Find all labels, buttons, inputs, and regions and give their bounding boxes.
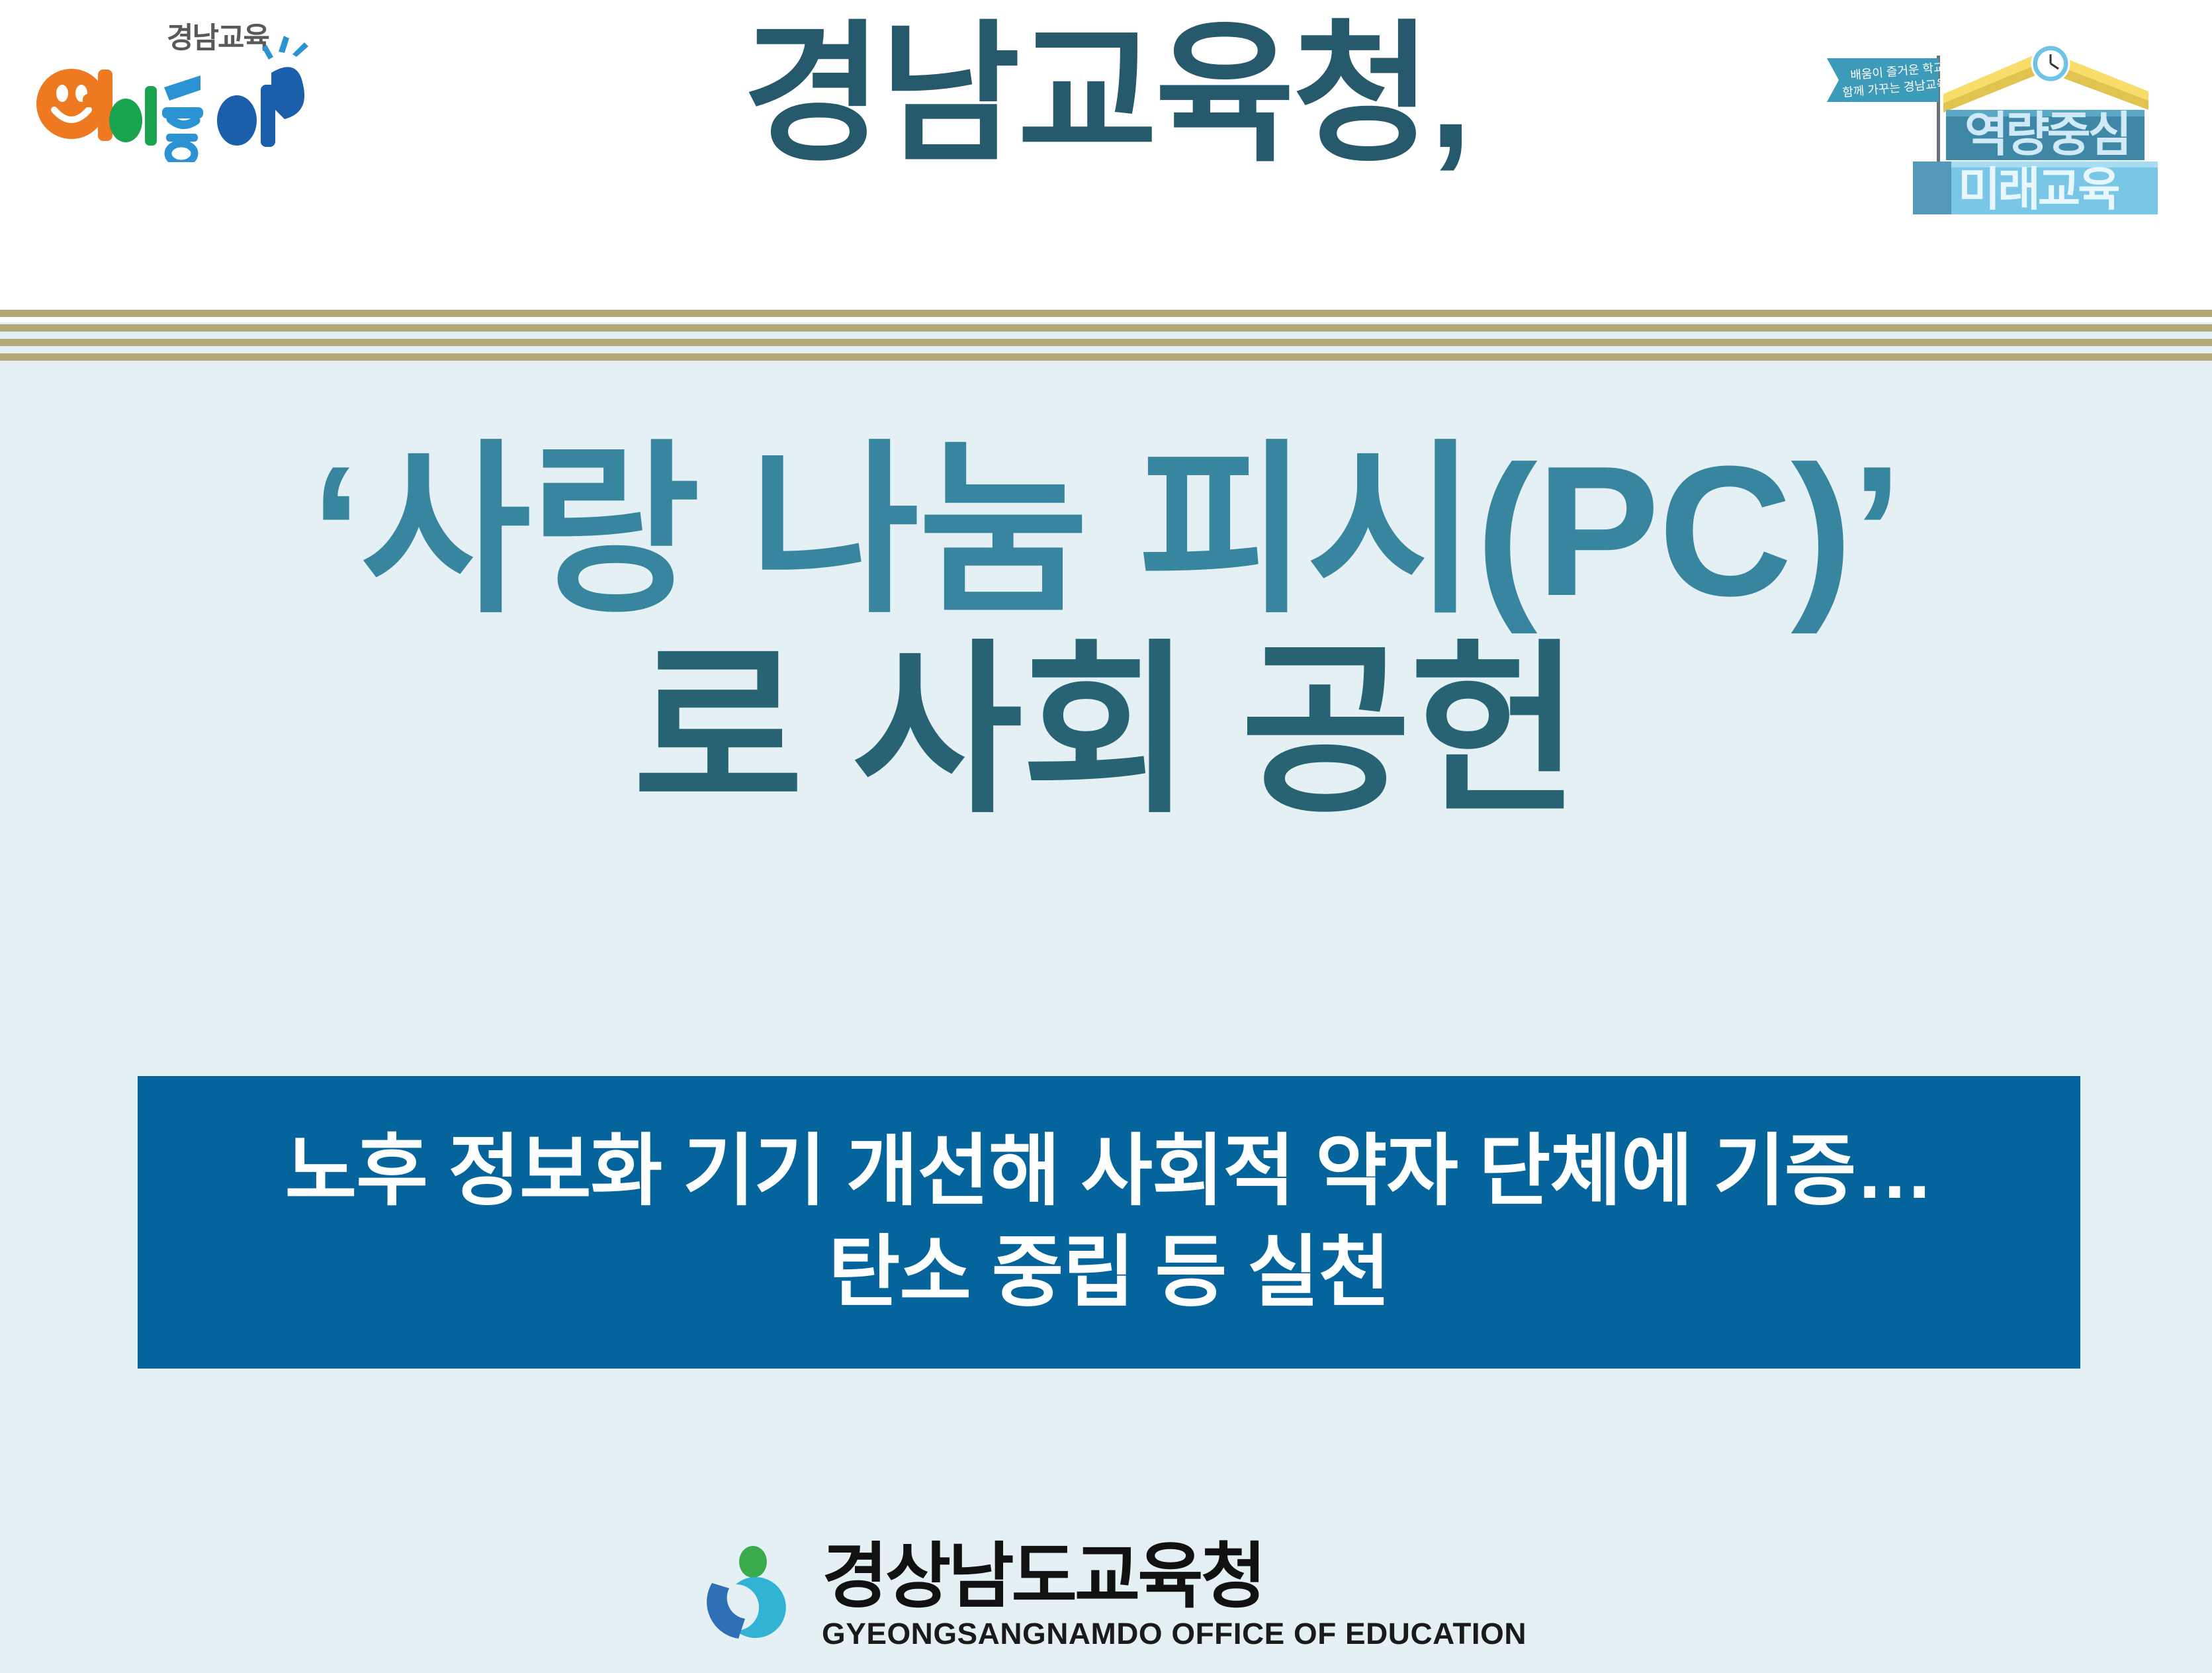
headline-line-2: 로 사회 공헌 <box>0 636 2212 827</box>
headline-line-1: ‘사랑 나눔 피시(PC)’ <box>0 436 2212 627</box>
page-header: 경남교육 경남교육청, <box>0 0 2212 322</box>
banner-line-1: 노후 정보화 기기 개선해 사회적 약자 단체에 기증… <box>285 1121 1933 1222</box>
gyeongnam-office-logo: 경상남도교육청 GYEONGSANGNAMDO OFFICE OF EDUCAT… <box>699 1541 1513 1649</box>
office-name-ko: 경상남도교육청 <box>822 1541 1264 1612</box>
headline-block: ‘사랑 나눔 피시(PC)’ 로 사회 공헌 <box>0 436 2212 827</box>
slide-body: ‘사랑 나눔 피시(PC)’ 로 사회 공헌 노후 정보화 기기 개선해 사회적… <box>0 363 2212 1673</box>
office-logo-mark <box>699 1545 805 1644</box>
banner-line-2: 탄소 중립 등 실천 <box>828 1222 1390 1324</box>
svg-text:미래교육: 미래교육 <box>1958 163 2119 215</box>
stripe-line <box>0 353 2212 361</box>
subtitle-banner: 노후 정보화 기기 개선해 사회적 약자 단체에 기증… 탄소 중립 등 실천 <box>138 1076 2080 1369</box>
page-footer: 경상남도교육청 GYEONGSANGNAMDO OFFICE OF EDUCAT… <box>0 1531 2212 1657</box>
stripe-line <box>0 339 2212 346</box>
stripe-line <box>0 324 2212 332</box>
svg-text:역량중심: 역량중심 <box>1965 109 2129 161</box>
stripe-line <box>0 310 2212 317</box>
office-name-en: GYEONGSANGNAMDO OFFICE OF EDUCATION <box>822 1619 1526 1649</box>
future-education-logo: 배움이 즐거운 학교 함께 가꾸는 경남교육 역량중심 미래교육 <box>1807 17 2204 216</box>
decorative-stripes-divider <box>0 322 2212 363</box>
